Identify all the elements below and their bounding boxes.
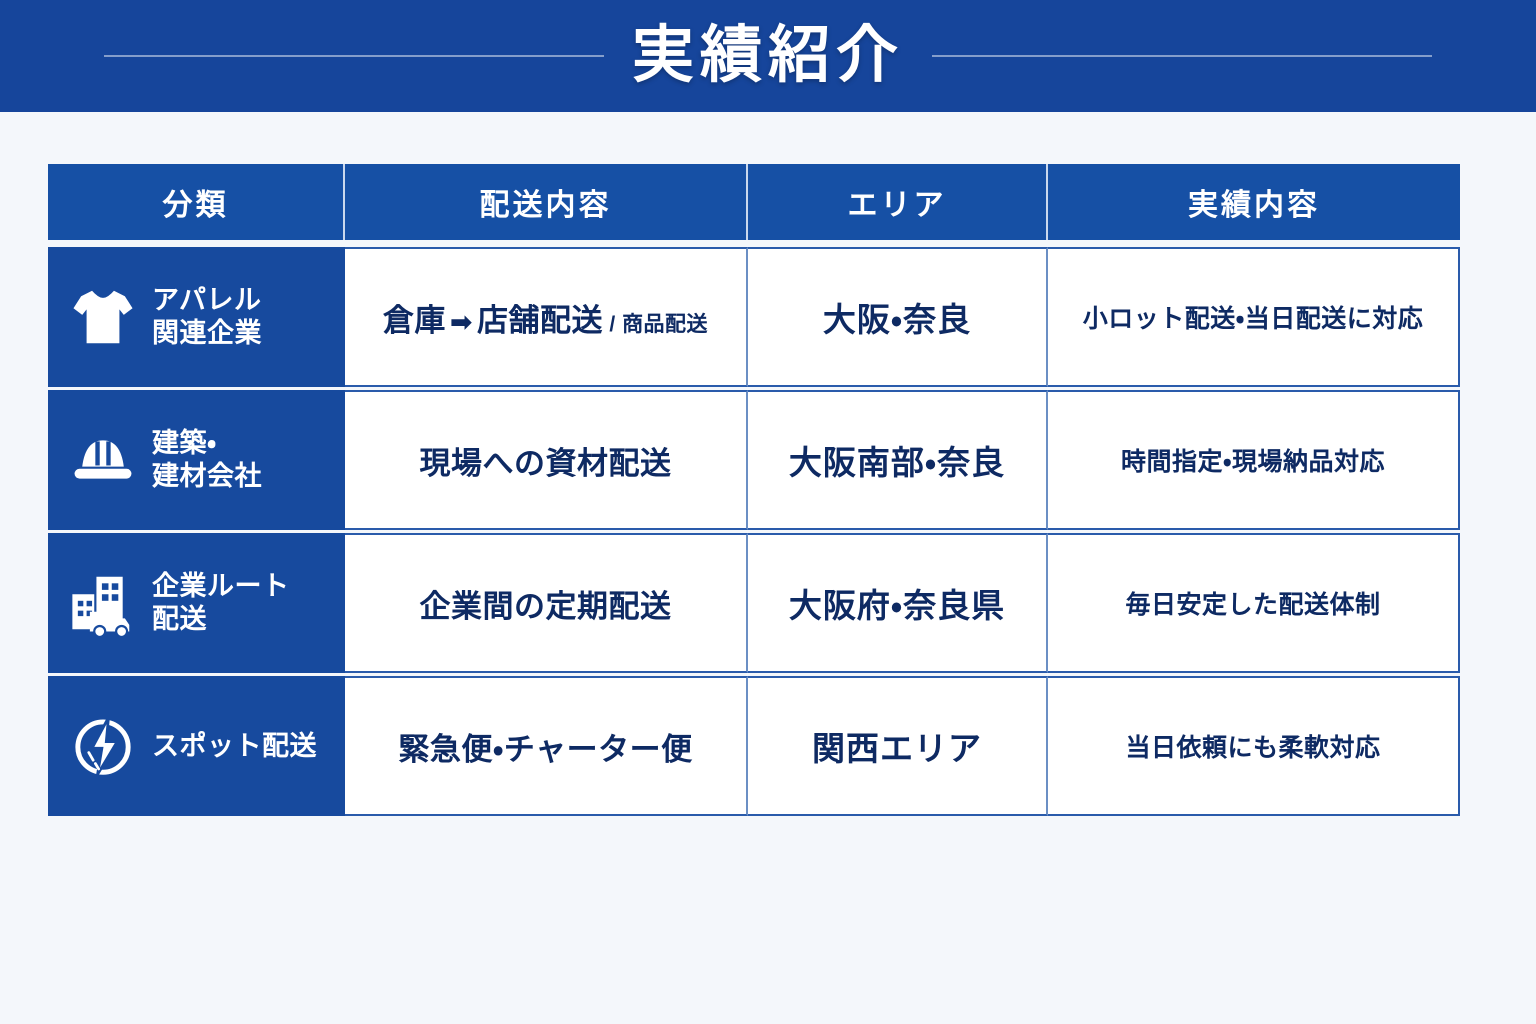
building-truck-icon	[66, 566, 140, 640]
banner-rule-right	[932, 55, 1432, 57]
table-header-row: 分類 配送内容 エリア 実績内容	[48, 164, 1460, 240]
result-label: 当日依頼にも柔軟対応	[1125, 728, 1380, 764]
delivery-content-main: 企業間の定期配送	[420, 581, 672, 626]
delivery-content-main: 倉庫	[383, 303, 446, 338]
arrow-icon: ➡	[446, 307, 477, 337]
area-label: 大阪府・奈良県	[789, 579, 1005, 627]
hard-hat-icon	[66, 423, 140, 497]
delivery-content-cell: 緊急便・チャーター便	[345, 676, 748, 816]
table-row: スポット配送 緊急便・チャーター便 関西エリア 当日依頼にも柔軟対応	[48, 676, 1460, 816]
delivery-content-cell: 現場への資材配送	[345, 390, 748, 530]
result-cell: 毎日安定した配送体制	[1048, 533, 1460, 673]
column-header-category: 分類	[48, 164, 345, 240]
category-label: 企業ルート 配送	[152, 570, 290, 636]
page-banner: 実績紹介	[0, 0, 1536, 112]
category-label: アパレル 関連企業	[152, 284, 262, 350]
area-label: 関西エリア	[812, 722, 982, 770]
result-label: 毎日安定した配送体制	[1125, 585, 1380, 621]
category-label: スポット配送	[152, 730, 317, 763]
result-cell: 小ロット配送・当日配送に対応	[1048, 247, 1460, 387]
area-cell: 大阪府・奈良県	[748, 533, 1048, 673]
achievements-table: 分類 配送内容 エリア 実績内容 アパレル 関連企業 倉庫➡店舗配送 / 商品配…	[48, 164, 1460, 816]
area-cell: 大阪・奈良	[748, 247, 1048, 387]
area-cell: 関西エリア	[748, 676, 1048, 816]
banner-rule-left	[104, 55, 604, 57]
result-cell: 当日依頼にも柔軟対応	[1048, 676, 1460, 816]
category-cell-spot-delivery: スポット配送	[48, 676, 345, 816]
delivery-content-main: 緊急便・チャーター便	[398, 724, 692, 769]
area-cell: 大阪南部・奈良	[748, 390, 1048, 530]
page-title: 実績紹介	[632, 25, 904, 87]
category-cell-apparel: アパレル 関連企業	[48, 247, 345, 387]
table-row: 建築・ 建材会社 現場への資材配送 大阪南部・奈良 時間指定・現場納品対応	[48, 390, 1460, 530]
area-label: 大阪・奈良	[823, 293, 971, 341]
column-header-results: 実績内容	[1048, 164, 1460, 240]
column-header-area: エリア	[748, 164, 1048, 240]
delivery-content-mid: 店舗配送	[477, 303, 603, 338]
result-label: 時間指定・現場納品対応	[1121, 442, 1385, 478]
delivery-content-cell: 企業間の定期配送	[345, 533, 748, 673]
delivery-content-cell: 倉庫➡店舗配送 / 商品配送	[345, 247, 748, 387]
column-header-delivery-content: 配送内容	[345, 164, 748, 240]
area-label: 大阪南部・奈良	[789, 436, 1005, 484]
result-cell: 時間指定・現場納品対応	[1048, 390, 1460, 530]
delivery-content-main: 現場への資材配送	[420, 438, 672, 483]
category-cell-construction: 建築・ 建材会社	[48, 390, 345, 530]
delivery-content-separator: /	[603, 313, 622, 336]
bolt-circle-icon	[66, 709, 140, 783]
delivery-content-sub: 商品配送	[622, 313, 708, 336]
tshirt-icon	[66, 280, 140, 354]
result-label: 小ロット配送・当日配送に対応	[1083, 299, 1424, 335]
table-row: アパレル 関連企業 倉庫➡店舗配送 / 商品配送 大阪・奈良 小ロット配送・当日…	[48, 247, 1460, 387]
category-cell-corporate-route: 企業ルート 配送	[48, 533, 345, 673]
table-row: 企業ルート 配送 企業間の定期配送 大阪府・奈良県 毎日安定した配送体制	[48, 533, 1460, 673]
category-label: 建築・ 建材会社	[152, 427, 262, 493]
